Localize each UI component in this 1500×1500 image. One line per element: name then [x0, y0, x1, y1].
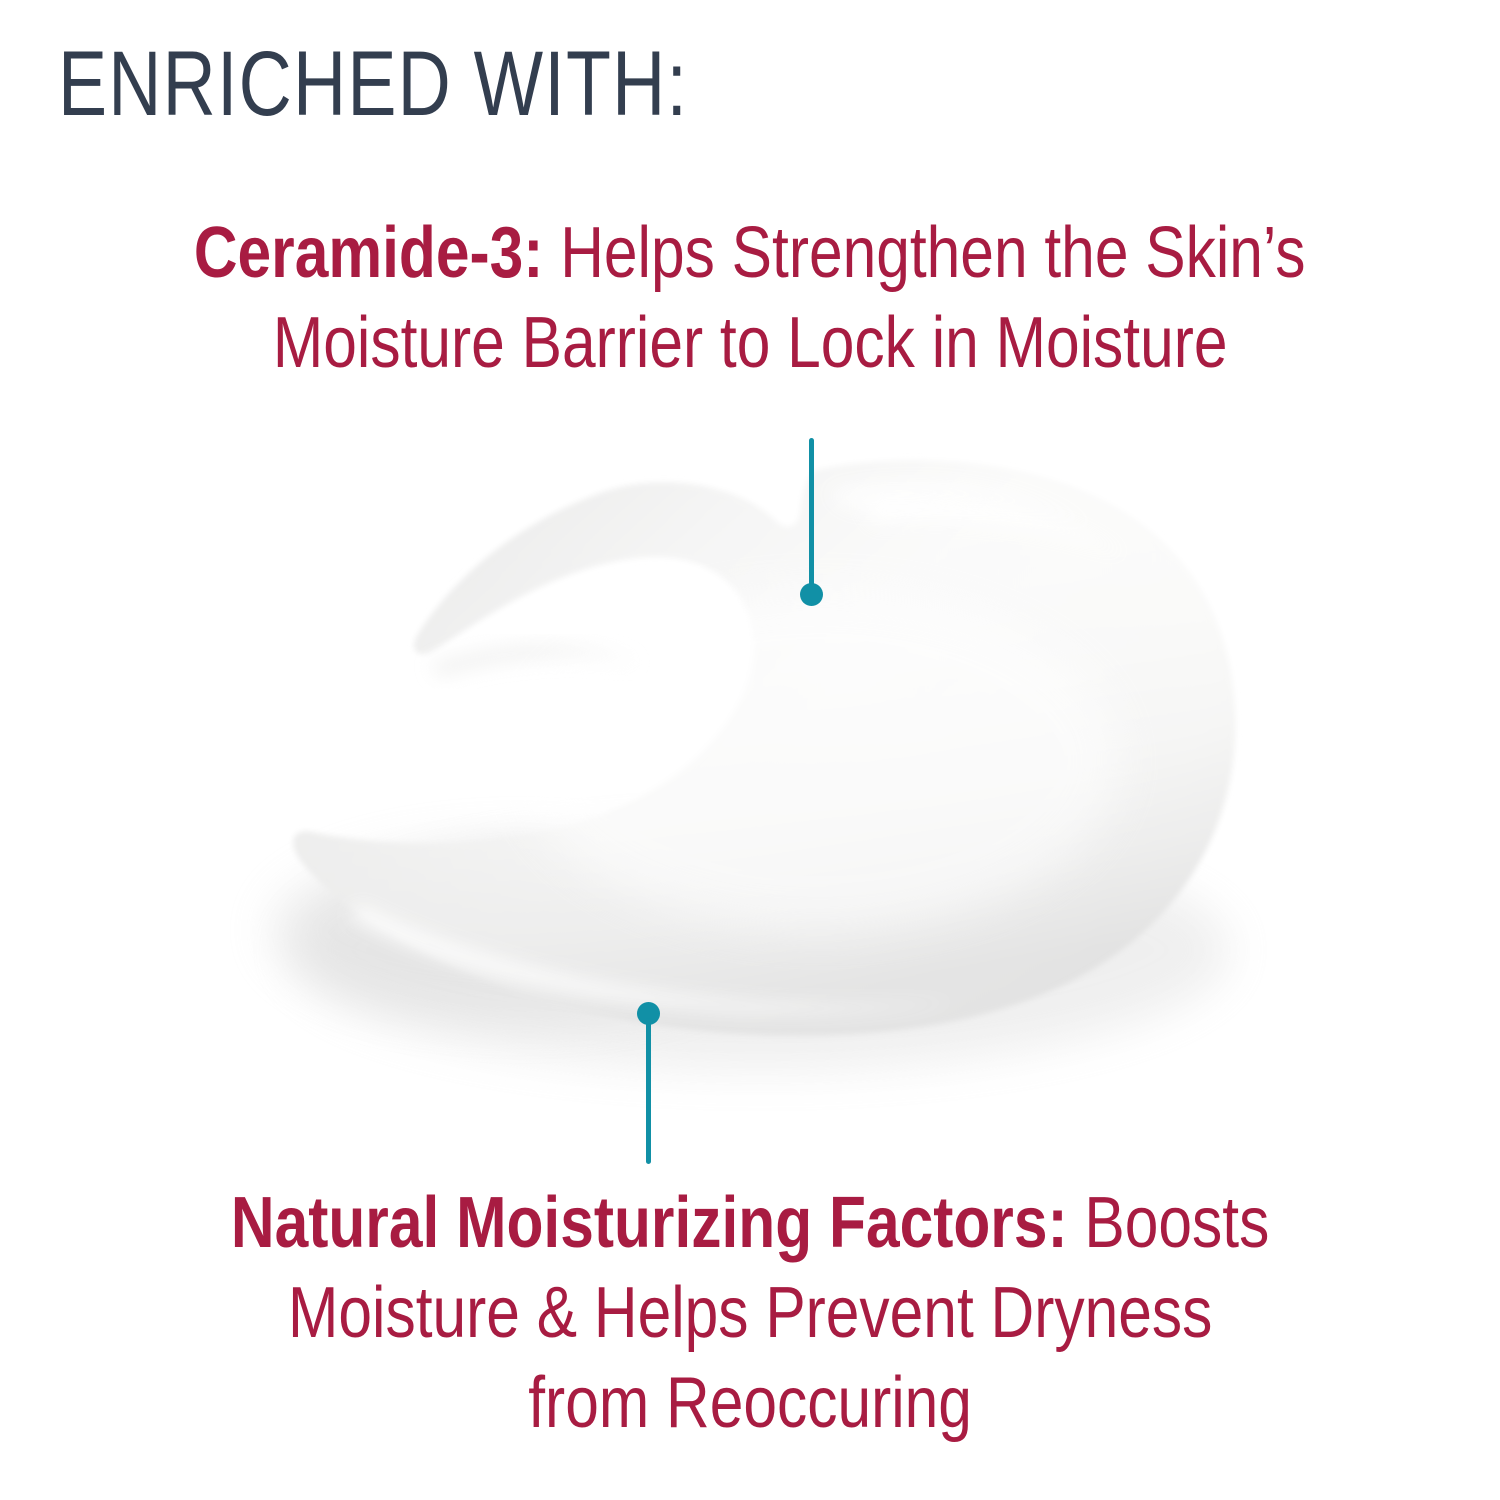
pointer-line [646, 1018, 651, 1164]
claim-text-part: from Reoccuring [528, 1358, 972, 1448]
enriched-with-infographic: ENRICHED WITH: [0, 0, 1500, 1500]
pointer-dot-icon [800, 583, 823, 606]
ingredient-name: Natural Moisturizing Factors: [231, 1183, 1068, 1263]
claim-line-2: Moisture Barrier to Lock in Moisture [0, 298, 1500, 388]
claim-line-1: Natural Moisturizing Factors: Boosts [0, 1178, 1500, 1268]
ingredient-name: Ceramide-3: [194, 213, 544, 293]
claim-text-part: Moisture Barrier to Lock in Moisture [273, 298, 1228, 388]
claim-text-part: Helps Strengthen the Skin’s [544, 213, 1306, 293]
claim-line-1: Ceramide-3: Helps Strengthen the Skin’s [0, 208, 1500, 298]
claim-natural-moisturizing-factors: Natural Moisturizing Factors: Boosts Moi… [0, 1178, 1500, 1448]
claim-text-part: Boosts [1068, 1183, 1270, 1263]
claim-text-part: Moisture & Helps Prevent Dryness [288, 1268, 1212, 1358]
claim-line-3: from Reoccuring [0, 1358, 1500, 1448]
page-title: ENRICHED WITH: [58, 38, 688, 130]
claim-ceramide-3: Ceramide-3: Helps Strengthen the Skin’s … [0, 208, 1500, 388]
pointer-line [809, 438, 814, 596]
claim-line-2: Moisture & Helps Prevent Dryness [0, 1268, 1500, 1358]
